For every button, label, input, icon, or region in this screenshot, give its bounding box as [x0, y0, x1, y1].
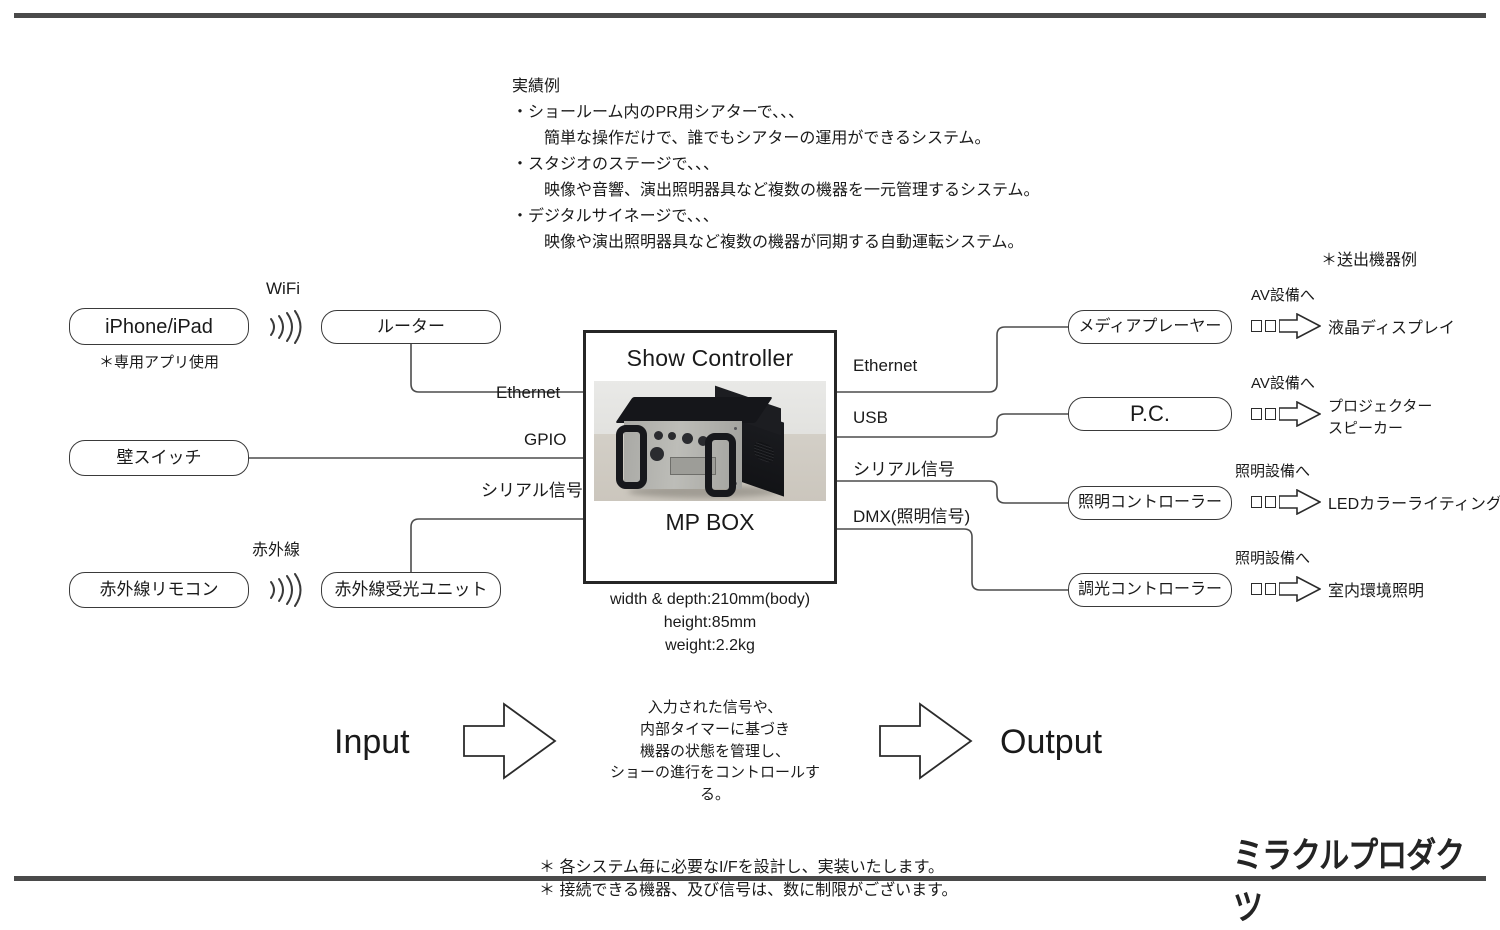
input-node-router-label: ルーター — [377, 317, 445, 337]
dest-0: 液晶ディスプレイ — [1328, 317, 1455, 340]
infrared-label: 赤外線 — [252, 539, 300, 562]
dest-label-3: 照明設備へ — [1235, 548, 1310, 570]
company-logo: ミラクルプロダクツ — [1233, 852, 1483, 904]
output-node-2-label: 照明コントローラー — [1078, 493, 1222, 512]
output-node-1-label: P.C. — [1130, 401, 1170, 427]
input-node-wall-switch[interactable]: 壁スイッチ — [69, 440, 249, 476]
input-signal-gpio: GPIO — [524, 428, 567, 453]
intro-line-3: 映像や音響、演出照明器具など複数の機器を一元管理するシステム。 — [512, 179, 1040, 202]
input-node-iphone[interactable]: iPhone/iPad — [69, 308, 249, 345]
intro-line-1: 簡単な操作だけで、誰でもシアターの運用ができるシステム。 — [512, 127, 991, 150]
output-node-3-label: 調光コントローラー — [1078, 580, 1222, 599]
wifi-label: WiFi — [266, 277, 300, 302]
input-signal-ethernet: Ethernet — [496, 381, 560, 406]
footnote-1: ＊ 接続できる機器、及び信号は、数に制限がございます。 — [539, 879, 958, 902]
output-devices-note: ＊送出機器例 — [1321, 249, 1417, 272]
output-signal-serial: シリアル信号 — [853, 458, 955, 483]
input-node-iphone-label: iPhone/iPad — [105, 315, 213, 339]
output-node-0-label: メディアプレーヤー — [1079, 317, 1222, 336]
signal-arrow-icon-2 — [1251, 489, 1321, 515]
signal-arrow-icon-0 — [1251, 313, 1321, 339]
show-controller-panel[interactable]: Show Controller MP BOX — [583, 330, 837, 584]
signal-arrow-icon-1 — [1251, 401, 1321, 427]
input-node-router[interactable]: ルーター — [321, 310, 501, 344]
signal-arrow-icon-3 — [1251, 576, 1321, 602]
input-node-ir-receiver-label: 赤外線受光ユニット — [335, 580, 488, 600]
output-node-1[interactable]: P.C. — [1068, 397, 1232, 431]
dest-2: LEDカラーライティング — [1328, 493, 1500, 516]
dest-label-1: AV設備へ — [1251, 373, 1315, 395]
dest-label-0: AV設備へ — [1251, 285, 1315, 307]
intro-line-0: ・ショールーム内のPR用シアターで、、、 — [512, 101, 804, 124]
input-node-ir-remote[interactable]: 赤外線リモコン — [69, 572, 249, 608]
input-node-wall-switch-label: 壁スイッチ — [117, 448, 202, 468]
mp-box-name: MP BOX — [665, 509, 754, 536]
output-signal-ethernet: Ethernet — [853, 354, 917, 379]
company-logo-text: ミラクルプロダクツ — [1233, 826, 1483, 930]
dest-label-2: 照明設備へ — [1235, 461, 1310, 483]
input-node-ir-remote-label: 赤外線リモコン — [100, 580, 219, 600]
mp-box-spec-2: weight:2.2kg — [583, 634, 837, 657]
output-signal-dmx: DMX(照明信号) — [853, 505, 970, 530]
intro-heading: 実績例 — [512, 75, 560, 98]
show-controller-title: Show Controller — [627, 345, 794, 372]
mp-box-spec-1: height:85mm — [583, 611, 837, 634]
output-node-0[interactable]: メディアプレーヤー — [1068, 310, 1232, 344]
output-signal-usb: USB — [853, 406, 888, 431]
diagram-canvas: 実績例 ・ショールーム内のPR用シアターで、、、 簡単な操作だけで、誰でもシアタ… — [0, 0, 1500, 920]
output-node-3[interactable]: 調光コントローラー — [1068, 573, 1232, 607]
iphone-note: ＊専用アプリ使用 — [69, 352, 249, 374]
flow-arrow-icon-left — [462, 700, 557, 787]
output-node-2[interactable]: 照明コントローラー — [1068, 486, 1232, 520]
flow-description: 入力された信号や、 内部タイマーに基づき 機器の状態を管理し、 ショーの進行をコ… — [600, 697, 830, 806]
mp-box-spec-0: width & depth:210mm(body) — [583, 588, 837, 611]
intro-line-2: ・スタジオのステージで、、、 — [512, 153, 719, 176]
infrared-wave-icon — [263, 568, 307, 612]
flow-input-label: Input — [334, 718, 410, 767]
input-node-ir-receiver[interactable]: 赤外線受光ユニット — [321, 572, 501, 608]
dest-3: 室内環境照明 — [1328, 580, 1424, 603]
wifi-wave-icon — [263, 305, 307, 349]
flow-output-label: Output — [1000, 718, 1102, 767]
intro-line-5: 映像や演出照明器具など複数の機器が同期する自動運転システム。 — [512, 231, 1024, 254]
intro-line-4: ・デジタルサイネージで、、、 — [512, 205, 719, 228]
flow-arrow-icon-right — [878, 700, 973, 787]
mp-box-photo — [594, 381, 826, 501]
footnote-0: ＊ 各システム毎に必要なI/Fを設計し、実装いたします。 — [539, 856, 944, 879]
top-border-bar — [14, 13, 1486, 18]
input-signal-serial: シリアル信号 — [481, 479, 583, 504]
dest-1: プロジェクター スピーカー — [1328, 396, 1432, 440]
